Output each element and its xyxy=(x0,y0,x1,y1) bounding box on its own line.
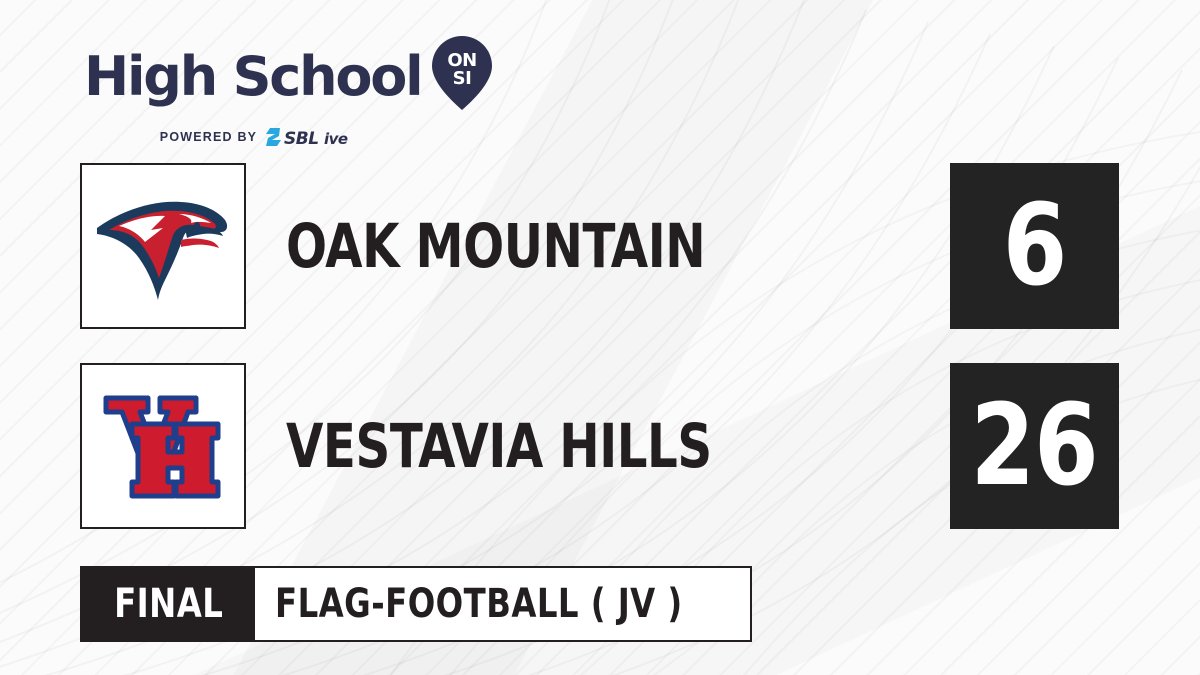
team-logo-box xyxy=(80,363,246,529)
status-badge: FINAL xyxy=(82,568,255,640)
team-name: OAK MOUNTAIN xyxy=(286,163,705,329)
sblive-logo: SBL ive xyxy=(266,126,372,148)
brand-wordmark: High School xyxy=(84,50,421,104)
powered-by-label: POWERED BY xyxy=(160,130,257,144)
powered-by-row: POWERED BY SBL ive xyxy=(84,126,504,148)
vh-monogram-icon xyxy=(102,390,224,502)
on-si-pin-icon: ON SI xyxy=(431,34,493,117)
status-badge-label: FINAL xyxy=(114,581,223,627)
brand-lockup: High School ON SI POWERED BY SBL ive xyxy=(84,36,504,148)
svg-text:ive: ive xyxy=(324,130,348,148)
team-score: 6 xyxy=(1003,190,1067,302)
svg-text:SI: SI xyxy=(453,68,472,89)
team-name: VESTAVIA HILLS xyxy=(286,363,712,529)
team-score-box: 6 xyxy=(950,163,1119,329)
team-score: 26 xyxy=(971,390,1098,502)
team-logo-box xyxy=(80,163,246,329)
brand-primary-row: High School ON SI xyxy=(84,36,504,117)
sport-label-container: FLAG-FOOTBALL ( JV ) xyxy=(255,568,750,640)
team-row: OAK MOUNTAIN 6 xyxy=(0,163,1200,333)
sport-label: FLAG-FOOTBALL ( JV ) xyxy=(275,581,683,627)
team-score-box: 26 xyxy=(950,363,1119,529)
scoreboard-graphic: High School ON SI POWERED BY SBL ive xyxy=(0,0,1200,675)
svg-text:SBL: SBL xyxy=(284,129,319,148)
eagle-head-icon xyxy=(93,188,233,304)
game-status-bar: FINAL FLAG-FOOTBALL ( JV ) xyxy=(80,566,752,642)
team-row: VESTAVIA HILLS 26 xyxy=(0,363,1200,533)
